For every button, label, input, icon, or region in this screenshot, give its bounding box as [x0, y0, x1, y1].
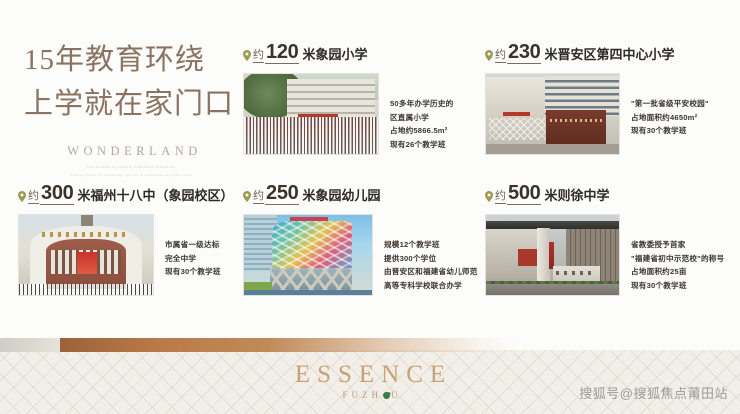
school-name: 米福州十八中（象园校区） — [77, 188, 233, 204]
desc-line: 规模12个教学班 — [384, 238, 478, 252]
card-title: 约 250 米象园幼儿园 — [243, 183, 488, 205]
approx-label: 约 — [253, 49, 264, 63]
approx-label: 约 — [495, 49, 506, 63]
school-description: 规模12个教学班 提供300个学位 由晋安区和福建省幼儿师范 高等专科学校联合办… — [384, 214, 478, 296]
approx-label: 约 — [28, 190, 39, 204]
desc-line: 现有30个教学班 — [631, 279, 724, 293]
desc-line: 省教委授予首家 — [631, 238, 724, 252]
source-watermark: 搜狐号@搜狐焦点莆田站 — [579, 383, 728, 402]
desc-line: 提供300个学位 — [384, 252, 478, 266]
map-pin-icon — [18, 191, 26, 202]
school-photo — [485, 214, 620, 296]
school-description: "第一批省级平安校园" 占地面积约4650m² 现有30个教学班 — [631, 73, 709, 155]
distance-value: 120 — [265, 42, 299, 64]
map-pin-icon — [485, 50, 493, 61]
school-card-grid: 约 120 米象园小学 50多年办学历史的 区直属小学 占地约5866.5m² … — [0, 0, 740, 330]
desc-line: 由晋安区和福建省幼儿师范 — [384, 265, 478, 279]
school-card-xiangyuan-primary[interactable]: 约 120 米象园小学 50多年办学历史的 区直属小学 占地约5866.5m² … — [243, 42, 478, 155]
school-name: 米象园小学 — [302, 47, 367, 63]
desc-line: 占地约5866.5m² — [390, 124, 453, 138]
school-description: 50多年办学历史的 区直属小学 占地约5866.5m² 现有26个教学班 — [390, 73, 453, 155]
footer-bronze-accent-bar — [60, 338, 520, 352]
brand-city-right: U — [391, 390, 402, 400]
card-title: 约 500 米则徐中学 — [485, 183, 735, 205]
school-card-zexu-middle[interactable]: 约 500 米则徐中学 省教委授予首家 "福建省初中示范校"的称号 占地面积约2… — [485, 183, 735, 296]
desc-line: 占地面积约25亩 — [631, 265, 724, 279]
card-title: 约 300 米福州十八中（象园校区） — [18, 183, 248, 205]
desc-line: 高等专科学校联合办学 — [384, 279, 478, 293]
brand-city-left: FUZH — [342, 390, 382, 400]
school-description: 市属省一级达标 完全中学 现有30个教学班 — [165, 214, 221, 296]
desc-line: "第一批省级平安校园" — [631, 97, 709, 111]
leaf-icon — [382, 391, 390, 399]
school-card-fuzhou-18th-middle[interactable]: 约 300 米福州十八中（象园校区） 市属省一级达标 完全中学 现有30个教学班 — [18, 183, 248, 296]
school-name: 米则徐中学 — [544, 188, 609, 204]
desc-line: 完全中学 — [165, 252, 221, 266]
desc-line: "福建省初中示范校"的称号 — [631, 252, 724, 266]
school-card-xiangyuan-kindergarten[interactable]: 约 250 米象园幼儿园 规模12个教学班 提供300个学位 由晋安区和福建省幼… — [243, 183, 488, 296]
desc-line: 区直属小学 — [390, 111, 453, 125]
school-name: 米晋安区第四中心小学 — [544, 47, 674, 63]
desc-line: 现有26个教学班 — [390, 138, 453, 152]
distance-value: 230 — [507, 42, 541, 64]
approx-label: 约 — [253, 190, 264, 204]
approx-label: 约 — [495, 190, 506, 204]
map-pin-icon — [243, 191, 251, 202]
school-photo — [243, 73, 379, 155]
desc-line: 现有30个教学班 — [631, 124, 709, 138]
distance-value: 250 — [265, 183, 299, 205]
school-photo — [18, 214, 154, 296]
map-pin-icon — [485, 191, 493, 202]
school-photo — [485, 73, 620, 155]
card-title: 约 230 米晋安区第四中心小学 — [485, 42, 735, 64]
school-name: 米象园幼儿园 — [302, 188, 380, 204]
school-photo — [243, 214, 373, 296]
desc-line: 50多年办学历史的 — [390, 97, 453, 111]
footer-grey-accent-bar — [0, 338, 62, 352]
desc-line: 市属省一级达标 — [165, 238, 221, 252]
distance-value: 300 — [40, 183, 74, 205]
footer-bar: ESSENCE FUZHU 搜狐号@搜狐焦点莆田站 — [0, 350, 740, 414]
desc-line: 现有30个教学班 — [165, 265, 221, 279]
school-card-jinan-fourth-central-primary[interactable]: 约 230 米晋安区第四中心小学 "第一批省级平安校园" 占地面积约4650m²… — [485, 42, 735, 155]
distance-value: 500 — [507, 183, 541, 205]
card-title: 约 120 米象园小学 — [243, 42, 478, 64]
map-pin-icon — [243, 50, 251, 61]
desc-line: 占地面积约4650m² — [631, 111, 709, 125]
school-description: 省教委授予首家 "福建省初中示范校"的称号 占地面积约25亩 现有30个教学班 — [631, 214, 724, 296]
